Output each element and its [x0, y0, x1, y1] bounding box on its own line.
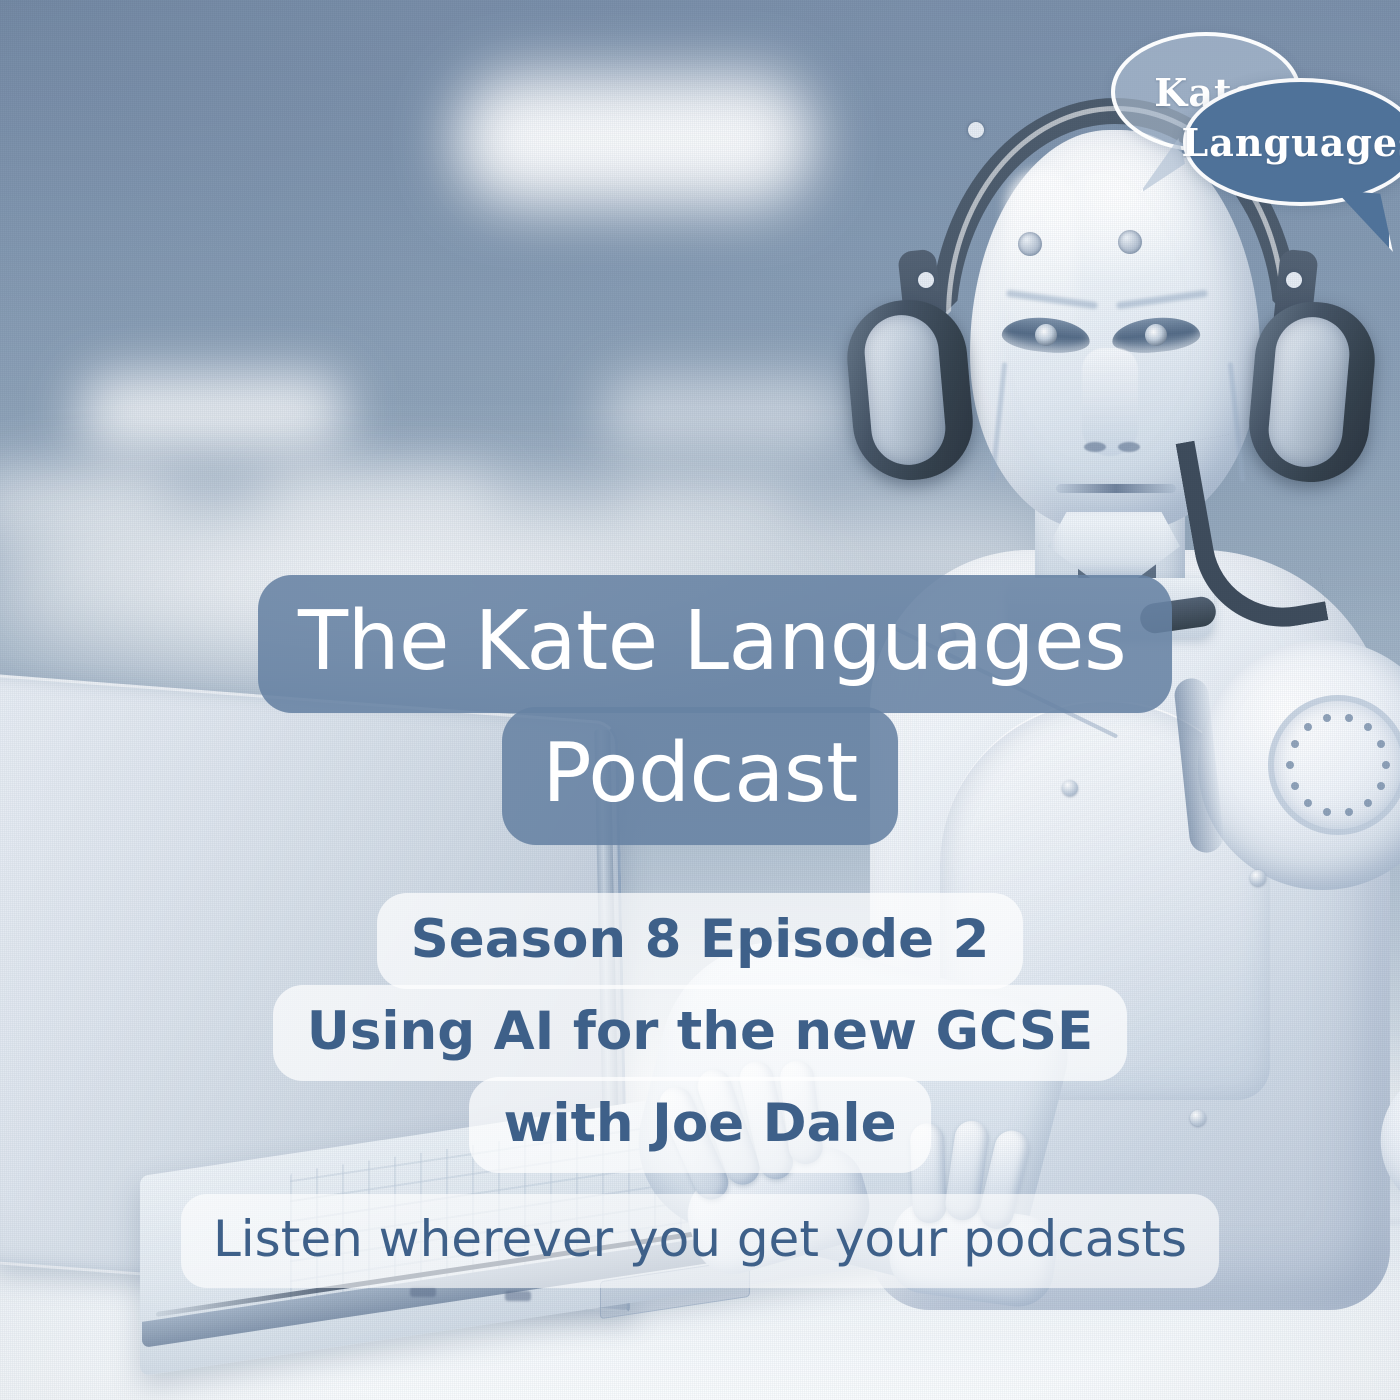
call-to-action: Listen wherever you get your podcasts: [0, 1194, 1400, 1288]
episode-title: Using AI for the new GCSE: [273, 985, 1127, 1081]
episode-guest: with Joe Dale: [469, 1077, 930, 1173]
podcast-cover-art: Kate Languages The Kate Languages Podcas…: [0, 0, 1400, 1400]
title-line-2: Podcast: [502, 707, 897, 845]
episode-number: Season 8 Episode 2: [377, 893, 1024, 989]
speech-bubble-languages: Languages: [1183, 78, 1400, 206]
listen-label: Listen wherever you get your podcasts: [181, 1194, 1219, 1288]
title-line-1: The Kate Languages: [258, 575, 1172, 713]
episode-info: Season 8 Episode 2 Using AI for the new …: [0, 893, 1400, 1173]
podcast-title: The Kate Languages Podcast: [0, 575, 1400, 845]
bubble-languages-label: Languages: [1187, 82, 1400, 202]
brand-logo: Kate Languages: [1095, 18, 1395, 218]
